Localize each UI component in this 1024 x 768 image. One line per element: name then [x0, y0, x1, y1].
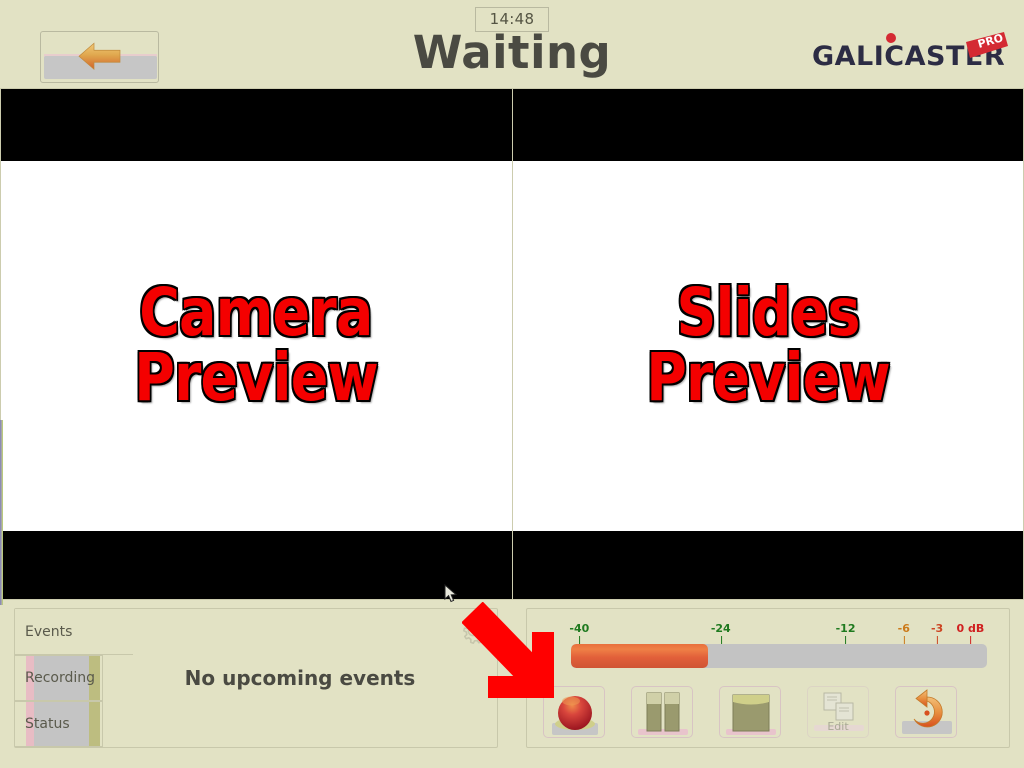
- slides-preview-label-line2: Preview: [646, 346, 890, 411]
- meter-tick--40: -40: [569, 622, 589, 635]
- undo-arrow-icon: [896, 687, 957, 738]
- tab-status[interactable]: Status: [15, 701, 103, 747]
- record-sphere-icon: [544, 687, 605, 738]
- transport-controls: Edit: [543, 686, 993, 738]
- app-header: 14:48 Waiting GALICASTER PRO: [0, 0, 1024, 88]
- record-button[interactable]: [543, 686, 605, 738]
- meter-tick--3: -3: [931, 622, 943, 635]
- audio-level-fill: [571, 644, 708, 668]
- camera-preview-label-line2: Preview: [134, 346, 378, 411]
- slides-preview-pane[interactable]: Slides Preview: [513, 88, 1024, 600]
- edit-button-label: Edit: [808, 720, 868, 733]
- edit-button[interactable]: Edit: [807, 686, 869, 738]
- galicaster-logo: GALICASTER PRO: [808, 32, 1008, 80]
- logo-dot: [886, 33, 896, 43]
- window-edge-divider: [0, 420, 3, 605]
- mouse-cursor: [444, 584, 458, 604]
- tab-strip: Events Recording Status: [15, 609, 103, 747]
- camera-preview-pane[interactable]: Camera Preview: [0, 88, 513, 600]
- meter-tick--12: -12: [836, 622, 856, 635]
- controls-section: -40 -24 -12 -6: [512, 600, 1024, 768]
- pause-bars-icon: [632, 687, 693, 738]
- galicaster-app-window: 14:48 Waiting GALICASTER PRO Camera Prev…: [0, 0, 1024, 768]
- tab-recording[interactable]: Recording: [15, 655, 103, 701]
- tab-status-label: Status: [25, 716, 70, 732]
- slides-letterbox-top: [513, 89, 1024, 161]
- slides-preview-body: Slides Preview: [513, 161, 1024, 531]
- gear-icon[interactable]: [458, 616, 488, 646]
- preview-area: Camera Preview Slides Preview: [0, 88, 1024, 600]
- pause-button[interactable]: [631, 686, 693, 738]
- slides-preview-label-line1: Slides: [676, 281, 859, 346]
- camera-preview-label-line1: Camera: [140, 281, 373, 346]
- events-panel: Events Recording Status No upcoming even…: [14, 608, 498, 748]
- slides-letterbox-bottom: [513, 531, 1024, 599]
- camera-preview-body: Camera Preview: [1, 161, 512, 531]
- camera-letterbox-top: [1, 89, 512, 161]
- tab-events-label: Events: [25, 624, 72, 640]
- stop-button[interactable]: [719, 686, 781, 738]
- stop-square-icon: [720, 687, 781, 738]
- tab-recording-label: Recording: [25, 670, 95, 686]
- camera-letterbox-bottom: [1, 531, 512, 599]
- bottom-bar: Events Recording Status No upcoming even…: [0, 600, 1024, 768]
- meter-tick-0db: 0 dB: [956, 622, 984, 635]
- controls-panel: -40 -24 -12 -6: [526, 608, 1010, 748]
- meter-tick--24: -24: [711, 622, 731, 635]
- no-upcoming-events-message: No upcoming events: [133, 609, 497, 747]
- audio-level-meter: [571, 644, 987, 668]
- tab-events[interactable]: Events: [15, 609, 133, 655]
- audio-meter-scale: -40 -24 -12 -6: [571, 622, 987, 644]
- repeat-button[interactable]: [895, 686, 957, 738]
- meter-tick--6: -6: [898, 622, 910, 635]
- events-section: Events Recording Status No upcoming even…: [0, 600, 512, 768]
